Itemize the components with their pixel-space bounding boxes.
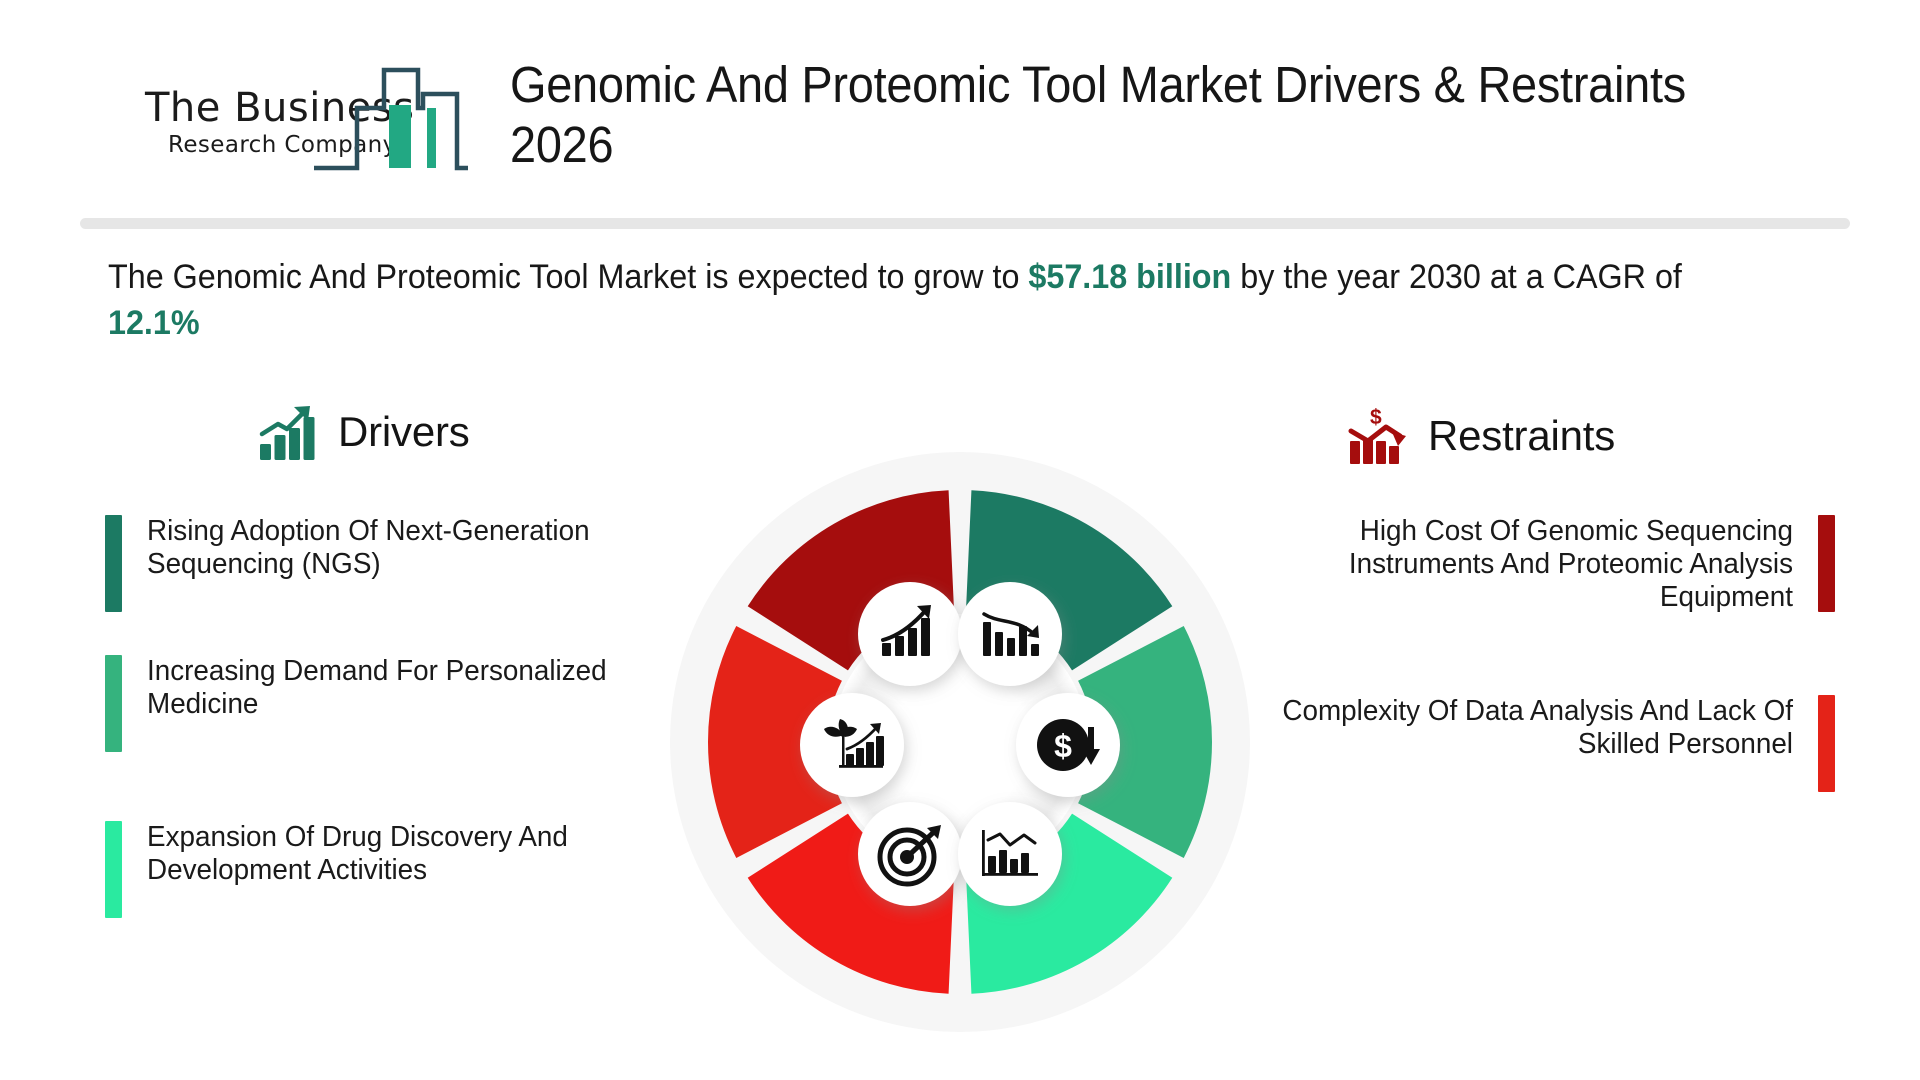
wheel-chart: $ (660, 442, 1260, 1042)
company-logo: The Business Research Company (140, 60, 480, 175)
rising-bar-chart-icon (258, 404, 320, 460)
restraint-item: High Cost Of Genomic Sequencing Instrume… (1255, 515, 1835, 695)
driver-accent-bar (105, 655, 122, 752)
driver-item: Rising Adoption Of Next-Generation Seque… (105, 515, 665, 655)
restraints-heading: Restraints (1428, 412, 1615, 460)
driver-item: Increasing Demand For Personalized Medic… (105, 655, 665, 821)
page-header: The Business Research Company Genomic An… (0, 0, 1920, 215)
driver-accent-bar (105, 515, 122, 612)
wheel-icon-declining-chart (958, 802, 1062, 906)
restraints-list: High Cost Of Genomic Sequencing Instrume… (1255, 515, 1835, 845)
driver-label: Expansion Of Drug Discovery And Developm… (147, 821, 644, 961)
summary-part-1: The Genomic And Proteomic Tool Market is… (108, 258, 1028, 296)
restraint-item: Complexity Of Data Analysis And Lack Of … (1255, 695, 1835, 845)
summary-part-2: by the year 2030 at a CAGR of (1231, 258, 1682, 296)
driver-accent-bar (105, 821, 122, 918)
svg-text:$: $ (1370, 408, 1382, 429)
restraint-accent-bar (1818, 695, 1835, 792)
drivers-restraints-wheel: $ (660, 442, 1260, 1042)
restraint-label: Complexity Of Data Analysis And Lack Of … (1277, 695, 1793, 845)
cagr-value: 12.1% (108, 304, 200, 342)
driver-label: Increasing Demand For Personalized Medic… (147, 655, 644, 821)
market-value: $57.18 billion (1028, 258, 1231, 296)
driver-label: Rising Adoption Of Next-Generation Seque… (147, 515, 644, 655)
market-summary: The Genomic And Proteomic Tool Market is… (108, 255, 1742, 347)
restraint-label: High Cost Of Genomic Sequencing Instrume… (1277, 515, 1793, 695)
declining-bar-chart-dollar-icon: $ (1348, 408, 1410, 464)
wheel-icon-target-arrow (858, 802, 962, 906)
wheel-icon-dollar-down-arrow: $ (1016, 693, 1120, 797)
bar-chart-logo-icon (310, 62, 470, 177)
restraints-header: $ Restraints (1348, 408, 1615, 464)
drivers-heading: Drivers (338, 408, 470, 456)
drivers-header: Drivers (258, 404, 470, 460)
svg-text:$: $ (1054, 728, 1072, 764)
header-divider (80, 218, 1850, 229)
page-title: Genomic And Proteomic Tool Market Driver… (510, 55, 1706, 175)
wheel-icon-rising-bar (858, 582, 962, 686)
wheel-icon-declining-bars (958, 582, 1062, 686)
restraint-accent-bar (1818, 515, 1835, 612)
wheel-icon-plant-growth (800, 693, 904, 797)
driver-item: Expansion Of Drug Discovery And Developm… (105, 821, 665, 961)
drivers-list: Rising Adoption Of Next-Generation Seque… (105, 515, 665, 961)
